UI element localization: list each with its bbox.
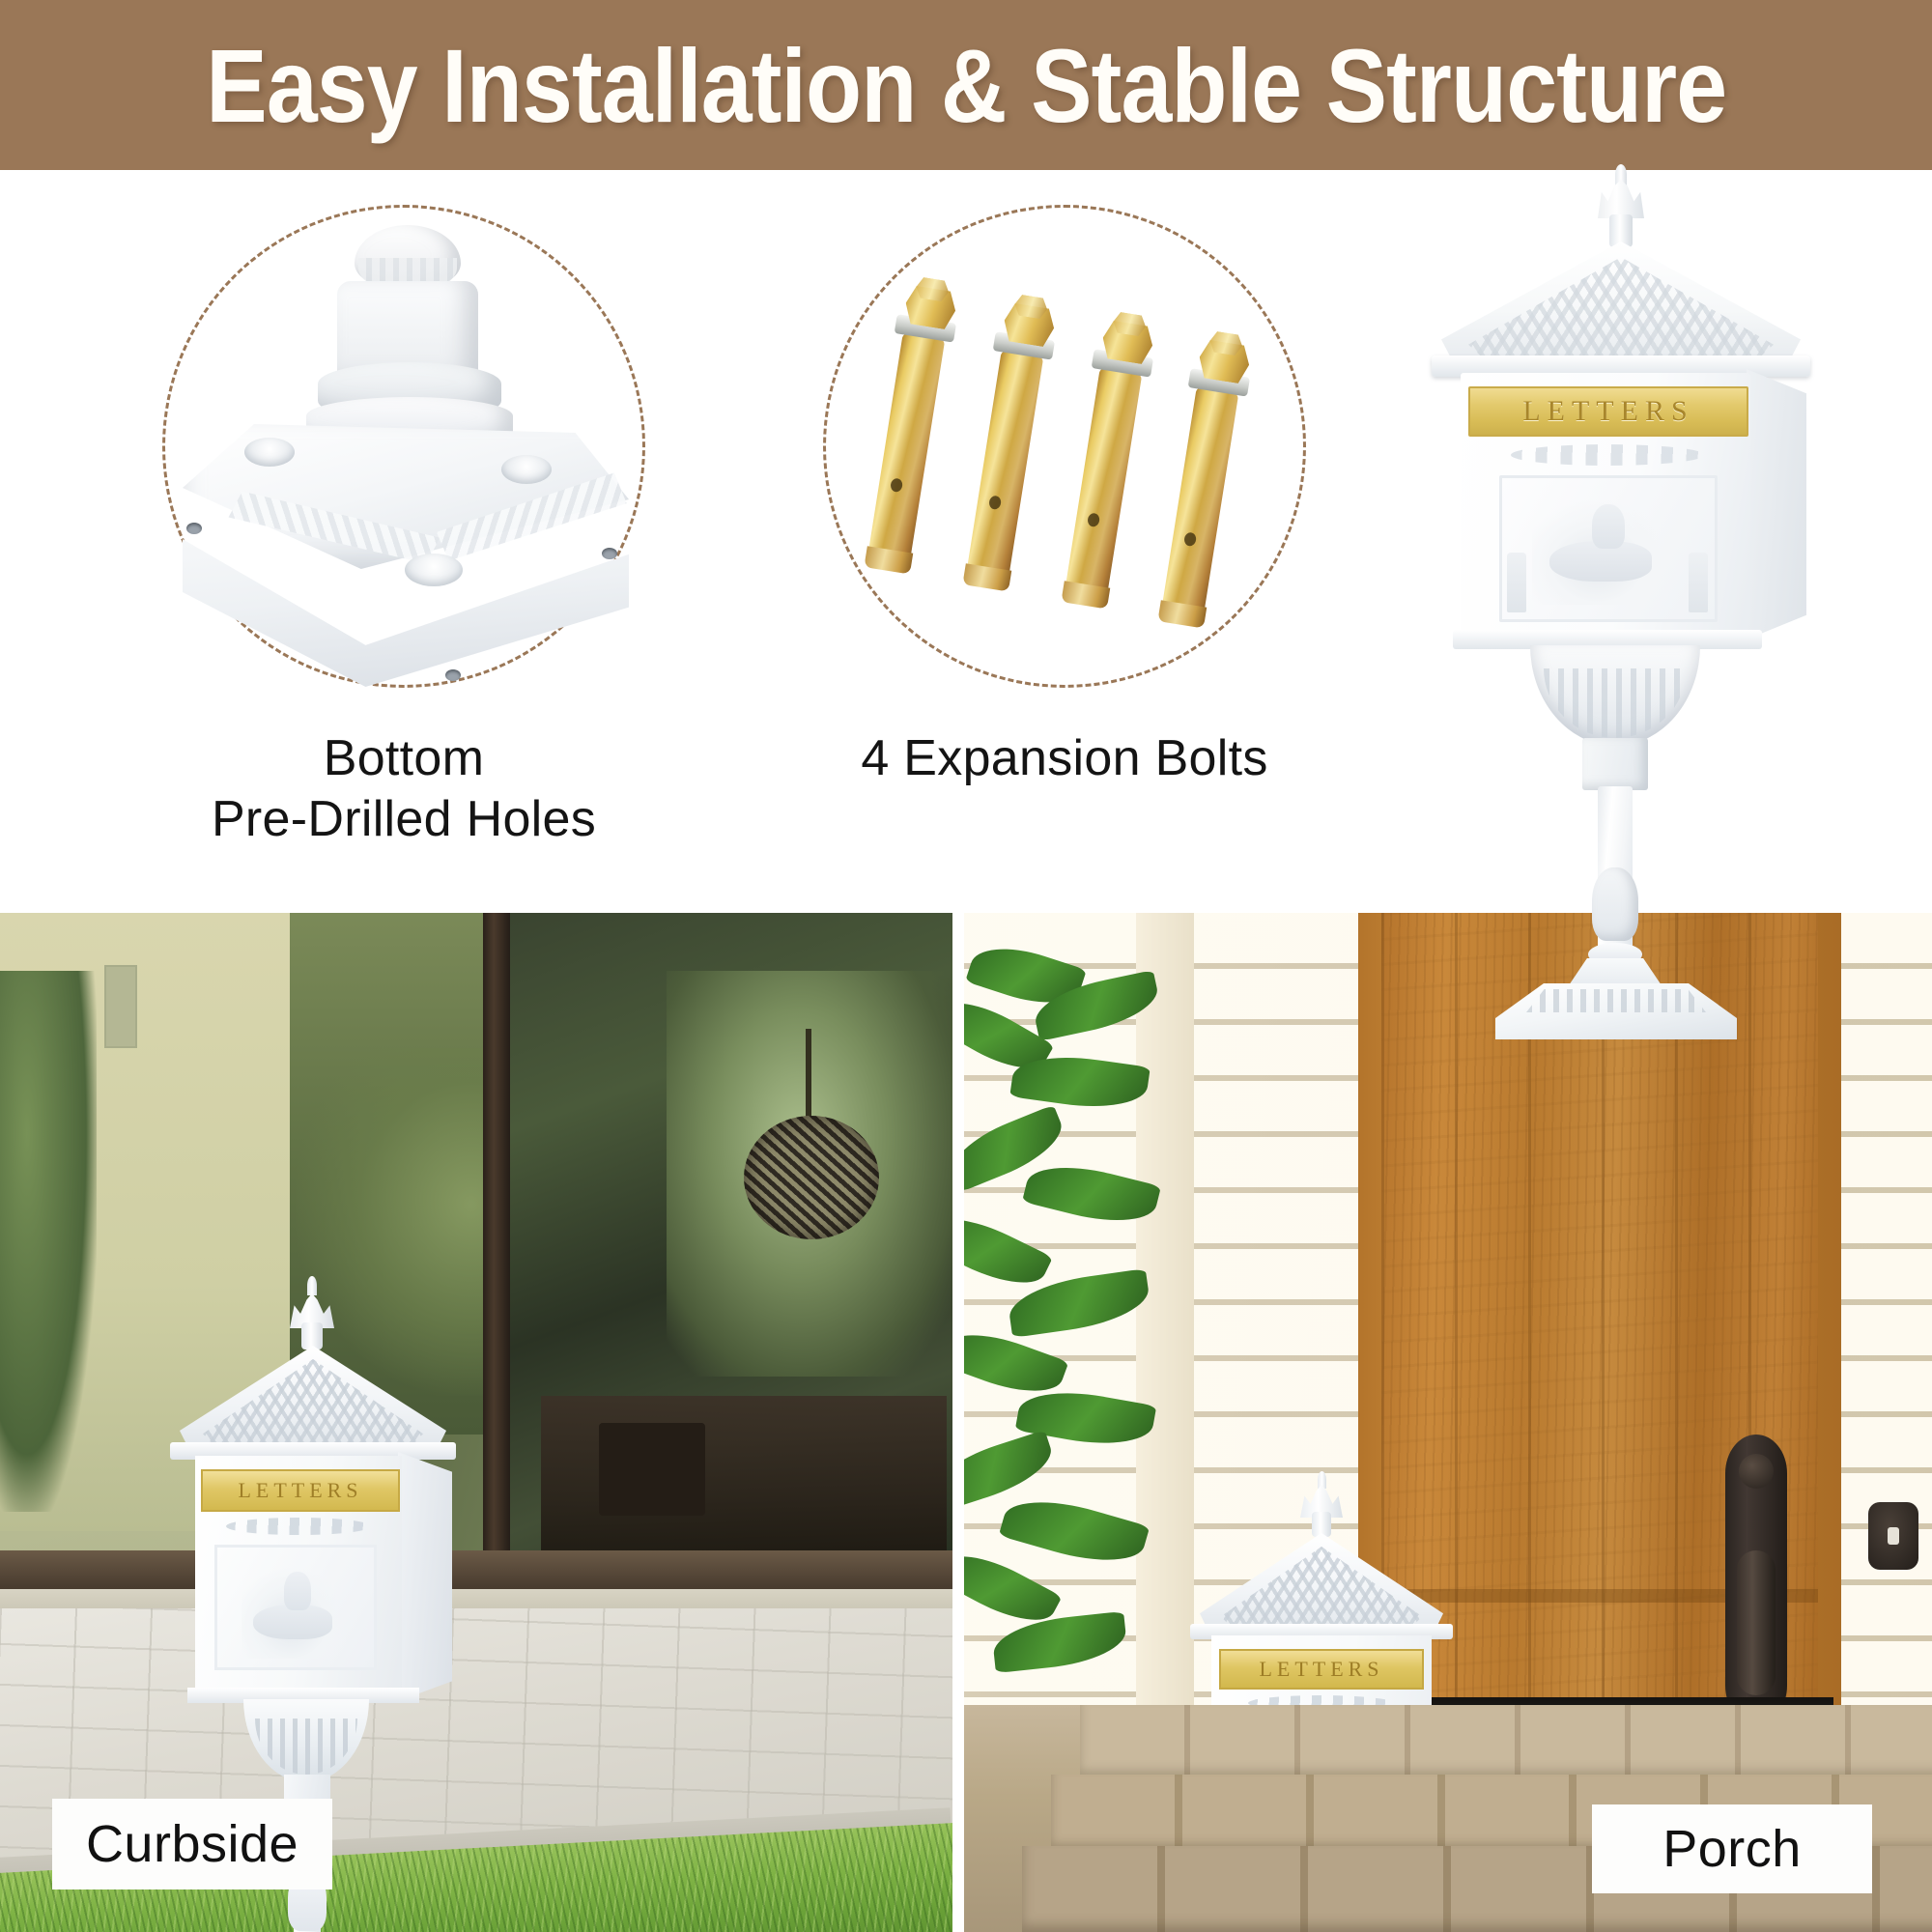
crown-finial-icon — [1598, 180, 1644, 218]
scene-label-curbside: Curbside — [52, 1799, 332, 1889]
scene-porch: LETTERS — [964, 913, 1932, 1932]
horse-and-rider-relief-icon — [241, 1568, 350, 1659]
deadbolt-lock-icon — [1868, 1502, 1918, 1570]
product-hero-mailbox: LETTERS — [1418, 180, 1824, 1030]
pre-drilled-hole — [602, 548, 617, 559]
feature-caption-expansion-bolts: 4 Expansion Bolts — [775, 728, 1354, 789]
letters-plate: LETTERS — [201, 1469, 400, 1512]
mailbox-base-plate-icon — [165, 208, 648, 691]
letters-plate-text: LETTERS — [238, 1478, 362, 1503]
feature-circle-expansion-bolts — [823, 205, 1306, 688]
letters-plate: LETTERS — [1219, 1649, 1424, 1690]
pendant-lamp-icon — [744, 1116, 879, 1239]
letters-plate-text: LETTERS — [1522, 395, 1693, 428]
scene-divider — [952, 913, 964, 1932]
feature-caption-pre-drilled-holes: Bottom Pre-Drilled Holes — [114, 728, 694, 851]
horse-and-rider-relief-icon — [1532, 498, 1677, 605]
header-banner: Easy Installation & Stable Structure — [0, 0, 1932, 170]
product-feature-image: Easy Installation & Stable Structure — [0, 0, 1932, 1932]
foliage-plant — [964, 942, 1196, 1695]
scene-label-porch: Porch — [1592, 1804, 1872, 1893]
feature-circle-bottom-pre-drilled-holes — [162, 205, 645, 688]
pre-drilled-hole — [445, 669, 461, 681]
page-title: Easy Installation & Stable Structure — [206, 25, 1726, 146]
scene-curbside: LETTERS — [0, 913, 952, 1932]
door-lever-handle-icon — [1737, 1550, 1776, 1695]
letters-plate-text: LETTERS — [1259, 1657, 1383, 1682]
expansion-bolt-icon — [826, 208, 1309, 691]
letters-plate: LETTERS — [1468, 386, 1748, 437]
door-knob-icon — [1739, 1454, 1774, 1489]
pre-drilled-hole — [186, 523, 202, 534]
